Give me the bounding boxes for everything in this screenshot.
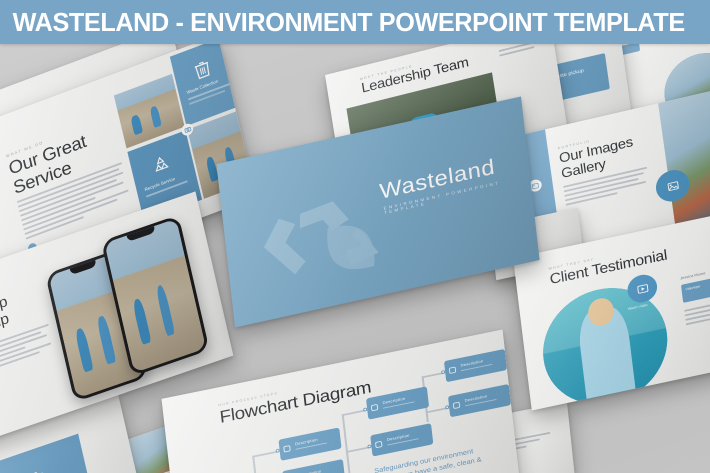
trash-bin-icon: [22, 468, 48, 473]
flow-node[interactable]: Description: [278, 427, 341, 460]
pin-icon: [283, 445, 291, 453]
play-icon: [636, 283, 648, 293]
gallery-photo: [658, 90, 710, 229]
banner: WASTELAND - ENVIRONMENT POWERPOINT TEMPL…: [0, 0, 710, 44]
testimonial-client-role: Volunteer: [685, 285, 700, 292]
flow-node[interactable]: Description: [366, 386, 429, 419]
banner-title: WASTELAND - ENVIRONMENT POWERPOINT TEMPL…: [0, 7, 685, 38]
testimonial-body: [684, 300, 710, 328]
stat-card[interactable]: 5238+ Tons Collected: [0, 434, 100, 473]
battery-icon: [375, 441, 383, 449]
connector: [252, 456, 261, 473]
mockup-scene: WASTELAND - ENVIRONMENT POWERPOINT TEMPL…: [0, 0, 710, 473]
flow-node[interactable]: Description: [282, 459, 345, 473]
mockup-body: [0, 324, 55, 381]
document-icon: [370, 404, 378, 412]
slides-scene: 2022 WHAT WE DO Our Great Service: [0, 44, 710, 473]
slide-hero-title[interactable]: Wasteland ENVIRONMENT POWERPOINT TEMPLAT…: [216, 96, 539, 327]
trash-bin-icon: [193, 58, 212, 80]
flowchart-title: Flowchart Diagram: [219, 378, 372, 427]
flow-node[interactable]: Description: [370, 423, 433, 456]
recycle-icon: [150, 153, 173, 176]
globe-icon: [452, 402, 460, 410]
image-icon: [667, 181, 679, 192]
flow-node[interactable]: Description: [448, 384, 511, 417]
testimonial-client-name: Jessica Moore: [680, 271, 706, 281]
warning-icon: [448, 367, 456, 375]
leadership-side-body: [499, 44, 545, 59]
flow-node[interactable]: Description: [444, 349, 507, 382]
